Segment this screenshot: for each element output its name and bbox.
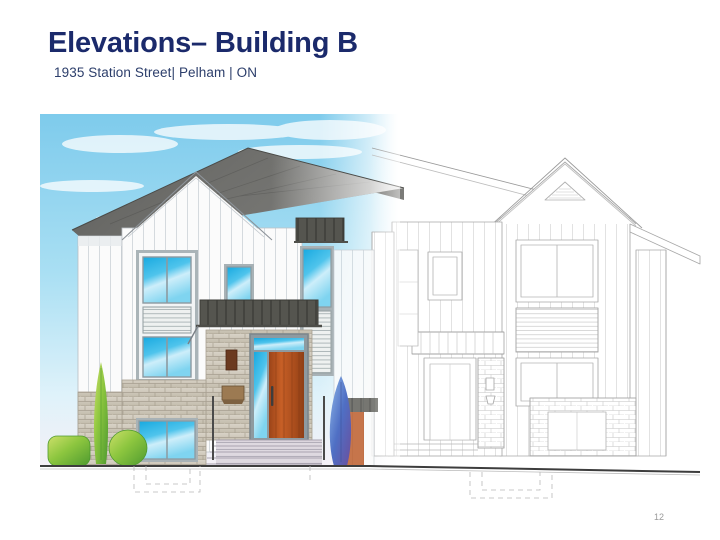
elevation-drawing bbox=[0, 100, 720, 500]
slide-header: Elevations– Building B 1935 Station Stre… bbox=[48, 28, 358, 80]
page-title: Elevations– Building B bbox=[48, 28, 358, 58]
page-number: 12 bbox=[654, 512, 664, 522]
elevation-rendering bbox=[0, 100, 720, 500]
slide: Elevations– Building B 1935 Station Stre… bbox=[0, 0, 720, 540]
window-upper-left bbox=[136, 250, 198, 382]
line-drawing-wing bbox=[372, 148, 700, 456]
page-subtitle: 1935 Station Street| Pelham | ON bbox=[54, 65, 358, 80]
